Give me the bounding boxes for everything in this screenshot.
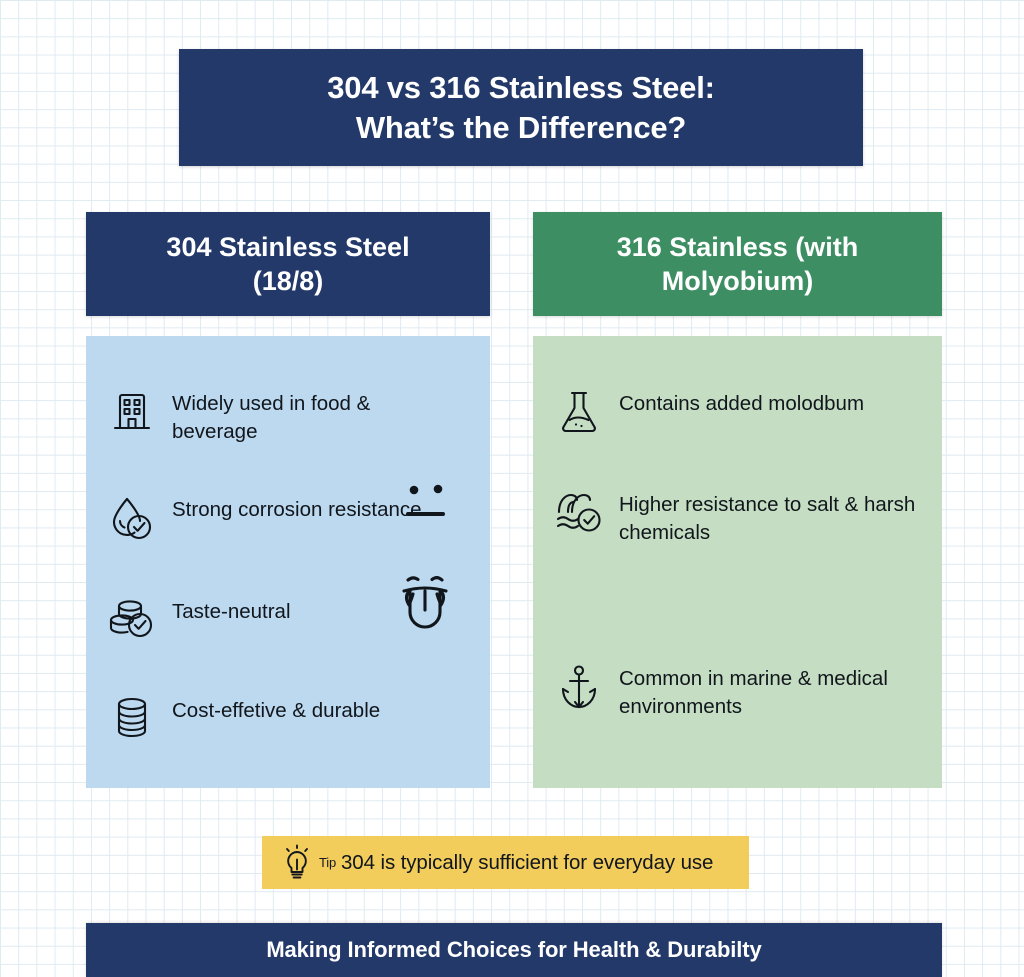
column-header-304-text: 304 Stainless Steel (18/8) [154, 230, 421, 298]
footer-text: Making Informed Choices for Health & Dur… [266, 937, 761, 963]
feature-text: Taste-neutral [172, 594, 291, 626]
coin-stack-icon [108, 693, 156, 747]
column-header-316: 316 Stainless (with Molyobium) [533, 212, 942, 316]
feature-item: Strong corrosion resistance [108, 492, 468, 546]
column-header-304-line1: 304 Stainless Steel [166, 232, 409, 262]
column-header-316-text: 316 Stainless (with Molyobium) [605, 230, 871, 298]
column-header-304: 304 Stainless Steel (18/8) [86, 212, 490, 316]
feature-item: Widely used in food & beverage [108, 386, 468, 445]
building-icon [108, 386, 156, 440]
page-title-banner: 304 vs 316 Stainless Steel: What’s the D… [179, 49, 863, 166]
column-header-316-line1: 316 Stainless (with [617, 232, 859, 262]
feature-text: Contains added molodbum [619, 386, 864, 418]
feature-text: Higher resistance to salt & harsh chemic… [619, 487, 920, 546]
footer-banner: Making Informed Choices for Health & Dur… [86, 923, 942, 977]
feature-text: Cost-effetive & durable [172, 693, 380, 725]
feature-item: Higher resistance to salt & harsh chemic… [555, 487, 920, 546]
feature-item: Contains added molodbum [555, 386, 920, 440]
feature-text: Widely used in food & beverage [172, 386, 447, 445]
column-header-304-line2: (18/8) [253, 266, 324, 296]
feature-item: Taste-neutral [108, 594, 468, 648]
feature-text: Common in marine & medical environments [619, 661, 920, 720]
feature-item: Cost-effetive & durable [108, 693, 468, 747]
lightbulb-icon [280, 843, 314, 883]
tip-banner: Tip 304 is typically sufficient for ever… [262, 836, 749, 889]
column-header-316-line2: Molyobium) [662, 266, 813, 296]
waves-check-icon [555, 487, 603, 541]
page-title-line2: What’s the Difference? [356, 110, 686, 145]
feature-item: Common in marine & medical environments [555, 661, 920, 720]
page-title-line1: 304 vs 316 Stainless Steel: [327, 70, 715, 105]
tip-text: 304 is typically sufficient for everyday… [341, 851, 713, 875]
water-drop-check-icon [108, 492, 156, 546]
feature-text: Strong corrosion resistance [172, 492, 422, 524]
coins-check-icon [108, 594, 156, 648]
panel-304: Widely used in food & beverage Strong co… [86, 336, 490, 788]
anchor-icon [555, 661, 603, 715]
panel-316: Contains added molodbum Higher resistanc… [533, 336, 942, 788]
page-title: 304 vs 316 Stainless Steel: What’s the D… [311, 68, 731, 147]
tip-label: Tip [319, 855, 336, 870]
flask-icon [555, 386, 603, 440]
infographic-canvas: 304 vs 316 Stainless Steel: What’s the D… [0, 0, 1024, 977]
